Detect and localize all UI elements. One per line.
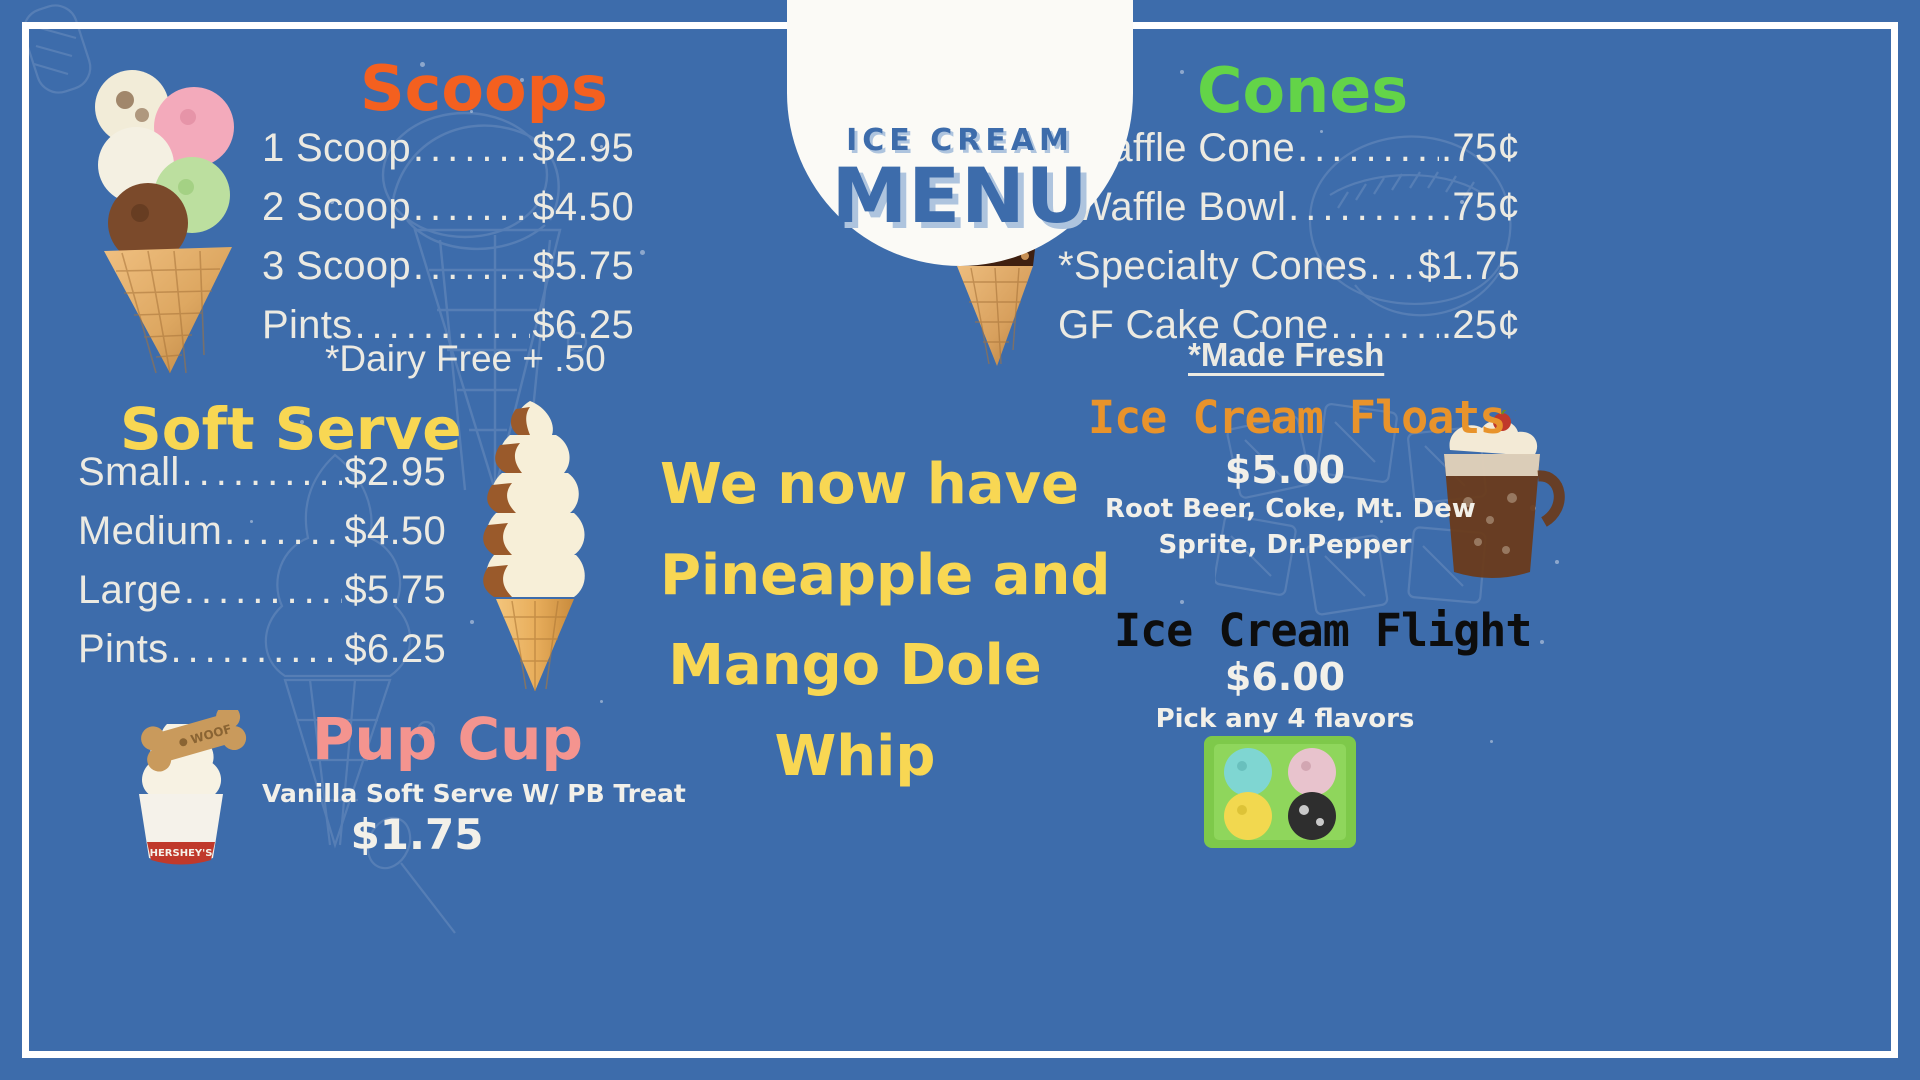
promo-line: Pineapple and: [660, 531, 1050, 622]
price-row: Small ..................................…: [78, 450, 446, 495]
item-price: $5.75: [344, 568, 446, 613]
item-price: $2.95: [532, 126, 634, 171]
leader-dots: ........................................…: [413, 128, 531, 168]
cones-title: Cones: [1197, 60, 1408, 122]
price-row: 3 Scoop ................................…: [262, 244, 634, 289]
soft-serve-price-list: Small ..................................…: [78, 450, 446, 686]
price-row: *Specialty Cones .......................…: [1058, 244, 1520, 289]
flight-title: Ice Cream Flight: [1114, 608, 1531, 653]
leader-dots: ........................................…: [184, 570, 343, 610]
promo-block: We now have Pineapple and Mango Dole Whi…: [660, 440, 1050, 803]
item-name: Medium: [78, 509, 222, 554]
price-row: *Waffle Bowl ...........................…: [1058, 185, 1520, 230]
item-name: *Specialty Cones: [1058, 244, 1367, 289]
item-price: $4.50: [344, 509, 446, 554]
scoop-cone-image: [70, 55, 270, 375]
item-name: 1 Scoop: [262, 126, 411, 171]
flight-price: $6.00: [1130, 655, 1440, 699]
price-row: Large ..................................…: [78, 568, 446, 613]
leader-dots: ........................................…: [1288, 187, 1439, 227]
leader-dots: ........................................…: [1297, 128, 1439, 168]
flight-tray-image: [1200, 730, 1360, 855]
pup-cup-image: WOOF HERSHEY'S: [95, 710, 265, 870]
item-price: $6.25: [344, 627, 446, 672]
pup-cup-title: Pup Cup: [312, 710, 583, 768]
price-row: Medium .................................…: [78, 509, 446, 554]
menu-title-text: MENU: [832, 160, 1089, 232]
promo-line: Whip: [660, 712, 1050, 803]
item-name: Small: [78, 450, 180, 495]
soft-serve-cone-image: [470, 395, 600, 695]
item-price: $2.95: [344, 450, 446, 495]
item-name: Large: [78, 568, 182, 613]
leader-dots: ........................................…: [182, 452, 343, 492]
item-name: 3 Scoop: [262, 244, 411, 289]
pup-cup-description: Vanilla Soft Serve W/ PB Treat: [262, 779, 572, 808]
scoops-title: Scoops: [360, 58, 608, 120]
floats-flavors-line-2: Sprite, Dr.Pepper: [1105, 530, 1465, 560]
menu-header-badge: ICE CREAM MENU: [787, 0, 1133, 266]
price-row: 1 Scoop ................................…: [262, 126, 634, 171]
leader-dots: ........................................…: [224, 511, 342, 551]
item-price: .75¢: [1441, 185, 1520, 230]
item-price: .75¢: [1441, 126, 1520, 171]
leader-dots: ........................................…: [413, 246, 531, 286]
leader-dots: ........................................…: [170, 629, 342, 669]
item-name: 2 Scoop: [262, 185, 411, 230]
item-price: $5.75: [532, 244, 634, 289]
floats-price: $5.00: [1130, 448, 1440, 492]
item-price: $4.50: [532, 185, 634, 230]
floats-title: Ice Cream Floats: [1088, 395, 1505, 440]
price-row: 2 Scoop ................................…: [262, 185, 634, 230]
scoops-price-list: 1 Scoop ................................…: [262, 126, 634, 362]
floats-flavors-line-1: Root Beer, Coke, Mt. Dew: [1105, 494, 1465, 524]
promo-line: We now have: [660, 440, 1050, 531]
leader-dots: ........................................…: [413, 187, 531, 227]
pup-cup-price: $1.75: [312, 810, 522, 859]
item-price: .25¢: [1441, 303, 1520, 348]
svg-text:HERSHEY'S: HERSHEY'S: [150, 848, 213, 859]
promo-line: Mango Dole: [660, 621, 1050, 712]
item-price: $1.75: [1418, 244, 1520, 289]
leader-dots: ........................................…: [1369, 246, 1416, 286]
cones-made-fresh-note: *Made Fresh: [1188, 336, 1384, 374]
price-row: Pints ..................................…: [78, 627, 446, 672]
flight-description: Pick any 4 flavors: [1130, 704, 1440, 734]
cones-price-list: *Waffle Cone ...........................…: [1058, 126, 1520, 362]
menu-poster: ICE CREAM MENU Scoops 1 Scoop ....: [0, 0, 1920, 1080]
scoops-dairy-free-note: *Dairy Free + .50: [325, 338, 606, 380]
item-name: Pints: [78, 627, 168, 672]
